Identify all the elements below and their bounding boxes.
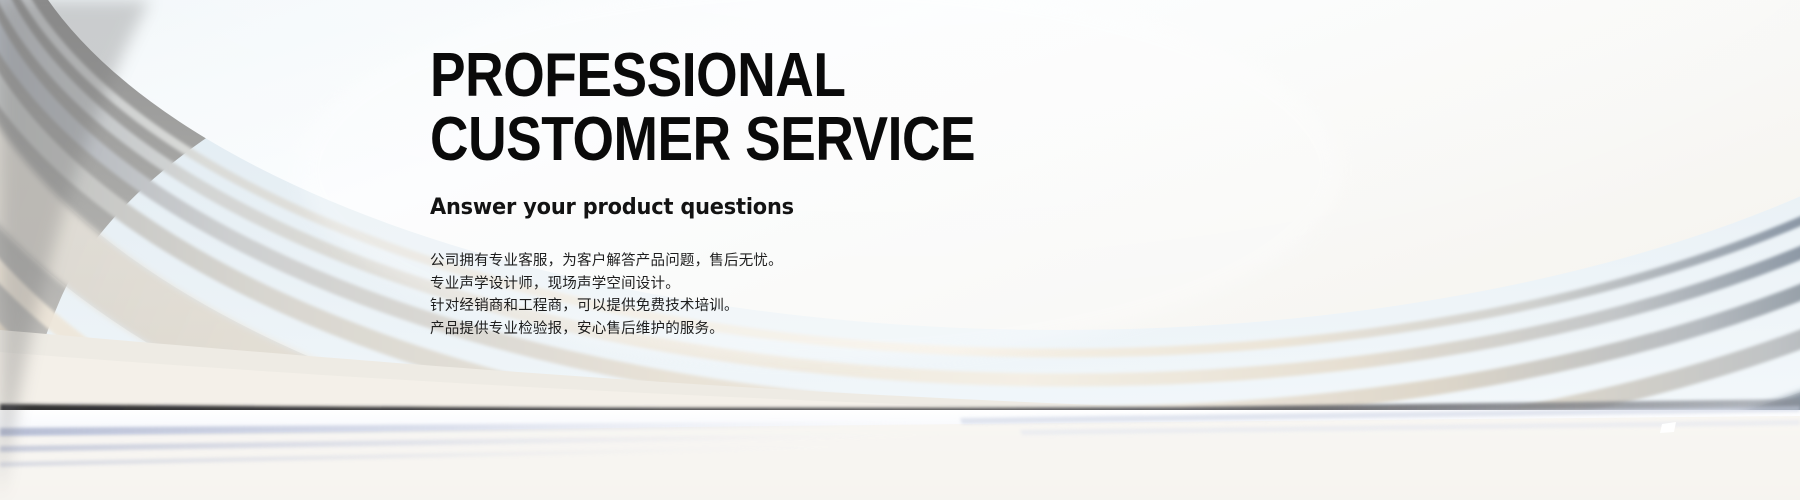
body-line: 公司拥有专业客服，为客户解答产品问题，售后无忧。 bbox=[430, 250, 1530, 273]
banner-hero: PROFESSIONAL CUSTOMER SERVICE Answer you… bbox=[0, 0, 1800, 500]
subheadline: Answer your product questions bbox=[430, 195, 1475, 220]
headline-line-2: CUSTOMER SERVICE bbox=[430, 110, 1376, 170]
body-line: 专业声学设计师，现场声学空间设计。 bbox=[430, 273, 1530, 296]
body-paragraph: 公司拥有专业客服，为客户解答产品问题，售后无忧。 专业声学设计师，现场声学空间设… bbox=[430, 250, 1530, 340]
hero-text-block: PROFESSIONAL CUSTOMER SERVICE Answer you… bbox=[430, 46, 1530, 340]
body-line: 针对经销商和工程商，可以提供免费技术培训。 bbox=[430, 295, 1530, 318]
body-line: 产品提供专业检验报，安心售后维护的服务。 bbox=[430, 318, 1530, 341]
page-title: PROFESSIONAL CUSTOMER SERVICE bbox=[430, 46, 1376, 169]
headline-line-1: PROFESSIONAL bbox=[430, 46, 1376, 106]
